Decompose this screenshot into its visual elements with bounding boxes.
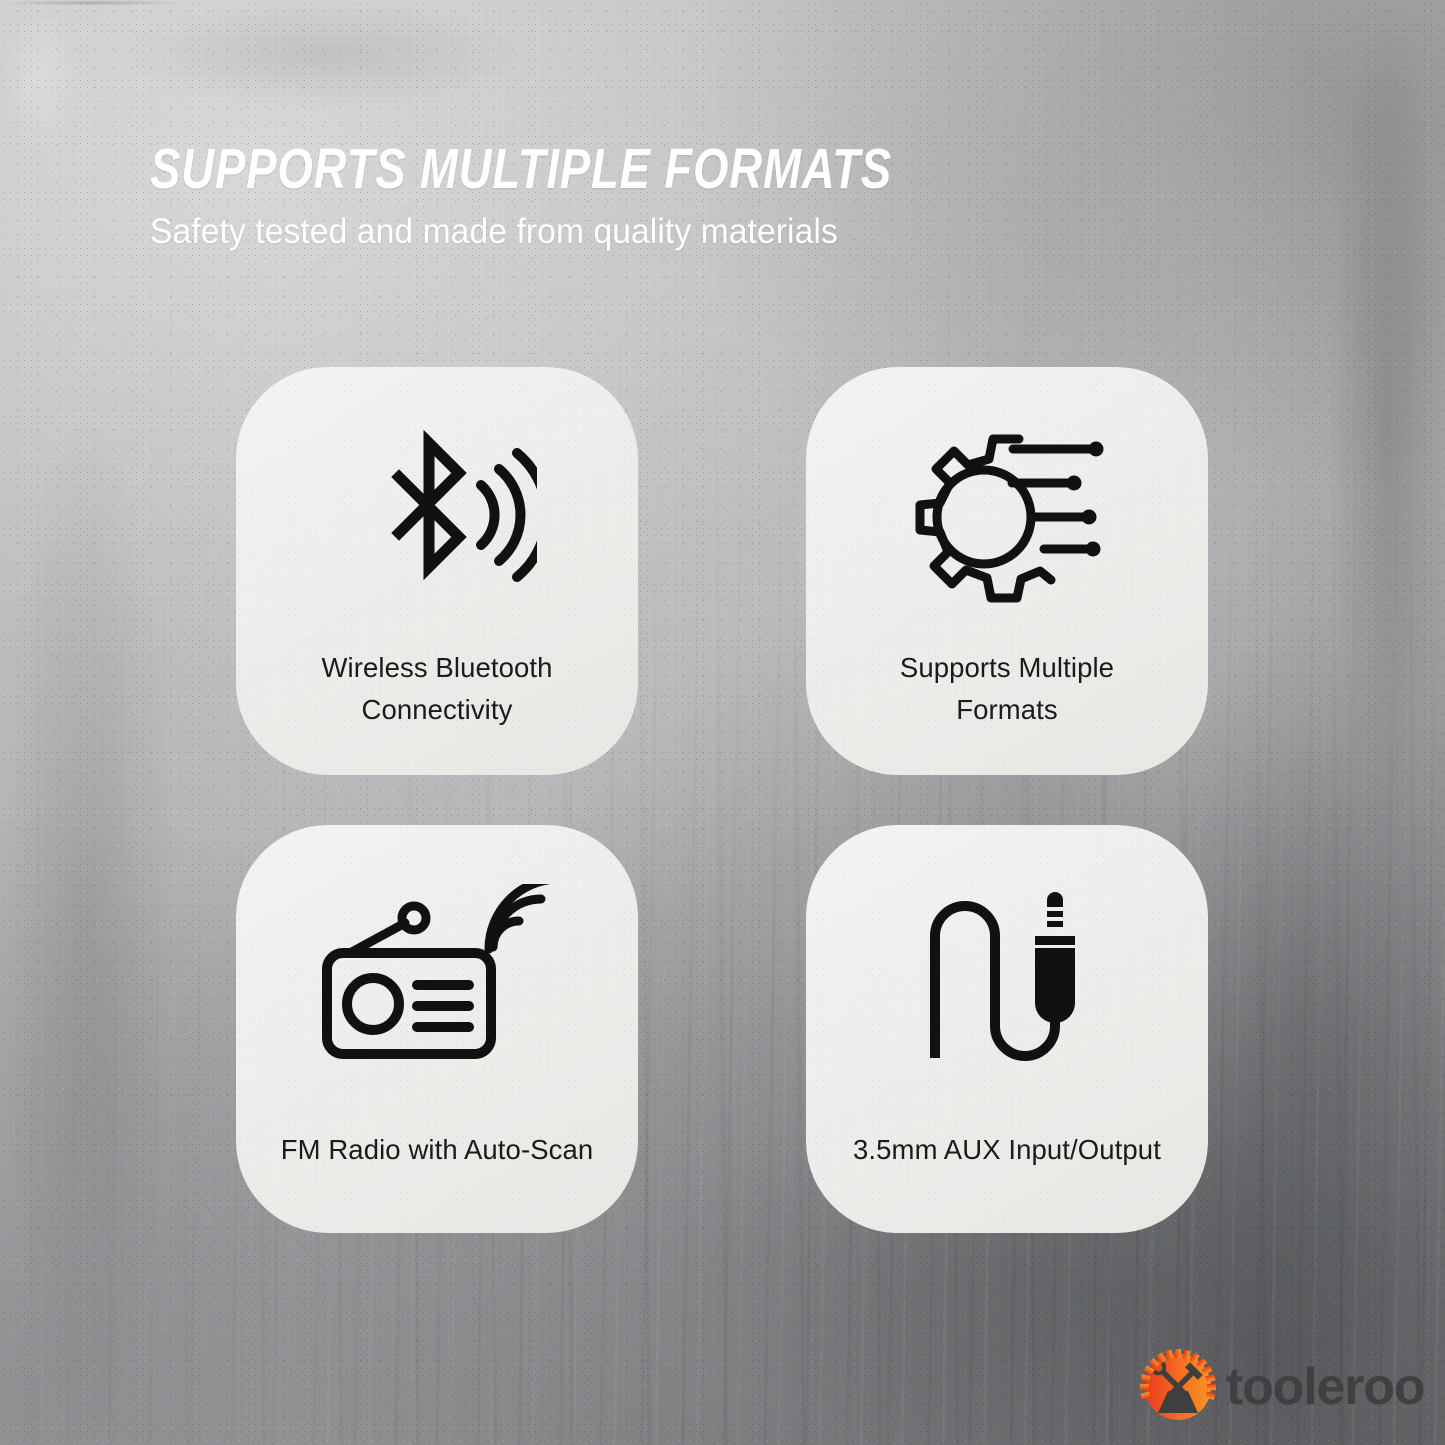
gear-circuit-icon xyxy=(806,395,1208,635)
fm-radio-icon xyxy=(236,861,638,1091)
page-subtitle: Safety tested and made from quality mate… xyxy=(150,212,1206,252)
header: SUPPORTS MULTIPLE FORMATS Safety tested … xyxy=(150,138,1250,252)
poster-canvas: SUPPORTS MULTIPLE FORMATS Safety tested … xyxy=(0,0,1445,1445)
feature-label-line-2: Formats xyxy=(956,694,1058,725)
feature-card-label: 3.5mm AUX Input/Output xyxy=(822,1129,1192,1171)
feature-label-line-2: Connectivity xyxy=(362,694,513,725)
feature-label-line-1: Supports Multiple xyxy=(900,652,1114,683)
feature-label-line-1: Wireless Bluetooth xyxy=(321,652,552,683)
aux-cable-jack-icon xyxy=(806,861,1208,1091)
feature-card-label: FM Radio with Auto-Scan xyxy=(252,1129,622,1171)
feature-card-grid: Wireless Bluetooth Connectivity xyxy=(236,367,1208,1233)
tooleroo-gear-tools-logo xyxy=(1139,1348,1217,1426)
feature-card-fm-radio[interactable]: FM Radio with Auto-Scan xyxy=(236,825,638,1233)
brand-logo[interactable]: tooleroo xyxy=(1139,1348,1424,1426)
page-title: SUPPORTS MULTIPLE FORMATS xyxy=(150,138,1030,200)
feature-card-label: Wireless Bluetooth Connectivity xyxy=(272,647,602,731)
feature-card-aux[interactable]: 3.5mm AUX Input/Output xyxy=(806,825,1208,1233)
feature-card-label: Supports Multiple Formats xyxy=(842,647,1172,731)
logo-wordmark: tooleroo xyxy=(1226,1361,1424,1413)
bluetooth-wireless-icon xyxy=(236,395,638,635)
feature-card-bluetooth[interactable]: Wireless Bluetooth Connectivity xyxy=(236,367,638,775)
feature-card-formats[interactable]: Supports Multiple Formats xyxy=(806,367,1208,775)
